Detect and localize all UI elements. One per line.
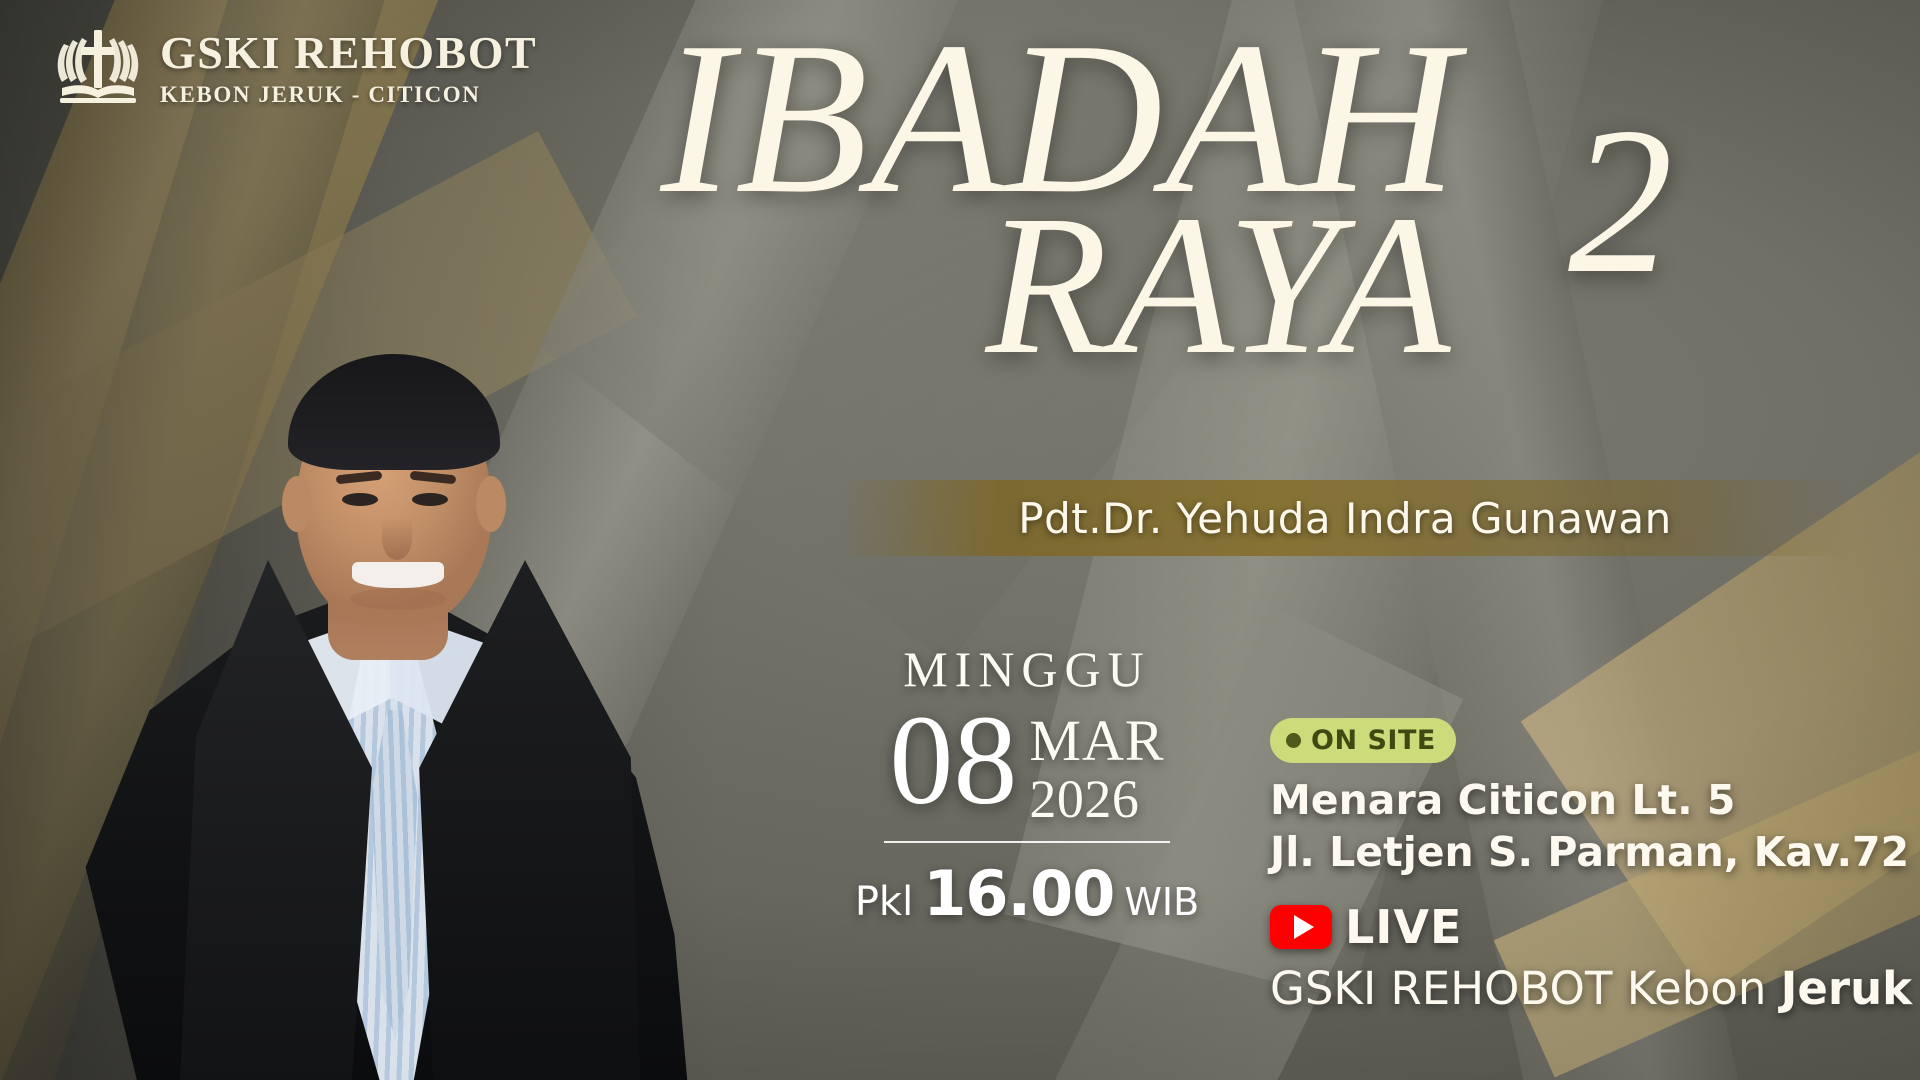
time-row: Pkl 16.00 WIB (862, 857, 1192, 930)
headline-numeral: 2 (1568, 96, 1673, 306)
time-prefix: Pkl (855, 879, 913, 925)
portrait-hair (288, 354, 500, 470)
day-number: 08 (889, 700, 1017, 822)
headline-row: IBADAH RAYA 2 (560, 18, 1880, 198)
church-logo: GSKI REHOBOT KEBON JERUK - CITICON (52, 22, 537, 114)
schedule-block: MINGGU 08 MAR 2026 Pkl 16.00 WIB (862, 640, 1192, 930)
time-value: 16.00 (923, 857, 1114, 930)
portrait-ear-right (476, 476, 506, 532)
date-divider (884, 841, 1170, 843)
month-year-stack: MAR 2026 (1029, 700, 1164, 829)
address-line-1: Menara Citicon Lt. 5 (1270, 775, 1890, 827)
year-label: 2026 (1029, 770, 1139, 829)
portrait-nose (382, 518, 412, 560)
logo-subtitle: KEBON JERUK - CITICON (160, 83, 537, 106)
portrait-chin (350, 588, 446, 610)
channel-part-3: Jeruk (1781, 962, 1912, 1015)
live-label: LIVE (1345, 900, 1462, 954)
portrait-ear-left (282, 476, 312, 532)
service-announcement-banner: GSKI REHOBOT KEBON JERUK - CITICON IBADA… (0, 0, 1920, 1080)
logo-text-block: GSKI REHOBOT KEBON JERUK - CITICON (160, 30, 537, 106)
dot-icon (1286, 733, 1301, 748)
logo-title: GSKI REHOBOT (160, 30, 537, 76)
portrait-smile (352, 562, 444, 588)
date-row: 08 MAR 2026 (862, 700, 1192, 829)
status-badge: ON SITE (1270, 718, 1456, 763)
address-line-2: Jl. Letjen S. Parman, Kav.72 (1270, 827, 1890, 879)
play-triangle-icon (1294, 915, 1314, 939)
event-headline: IBADAH RAYA 2 (560, 18, 1880, 198)
speaker-name: Pdt.Dr. Yehuda Indra Gunawan (1018, 494, 1671, 543)
portrait-eye-left (342, 493, 378, 506)
month-label: MAR (1029, 712, 1164, 770)
youtube-play-icon (1270, 905, 1332, 949)
speaker-name-band: Pdt.Dr. Yehuda Indra Gunawan (840, 480, 1850, 556)
channel-part-1: GSKI REHOBOT (1270, 962, 1627, 1015)
live-stream-row: LIVE (1270, 900, 1890, 954)
cross-book-rays-icon (52, 22, 144, 114)
venue-address: Menara Citicon Lt. 5 Jl. Letjen S. Parma… (1270, 775, 1890, 878)
status-badge-label: ON SITE (1311, 725, 1436, 756)
channel-part-2: Kebon (1627, 962, 1781, 1015)
headline-line-2: RAYA (860, 186, 1580, 386)
speaker-portrait (60, 140, 700, 1080)
channel-name: GSKI REHOBOT Kebon Jeruk (1270, 964, 1890, 1014)
venue-and-stream-block: ON SITE Menara Citicon Lt. 5 Jl. Letjen … (1270, 718, 1890, 1014)
time-zone: WIB (1124, 880, 1199, 924)
portrait-eye-right (412, 493, 448, 506)
